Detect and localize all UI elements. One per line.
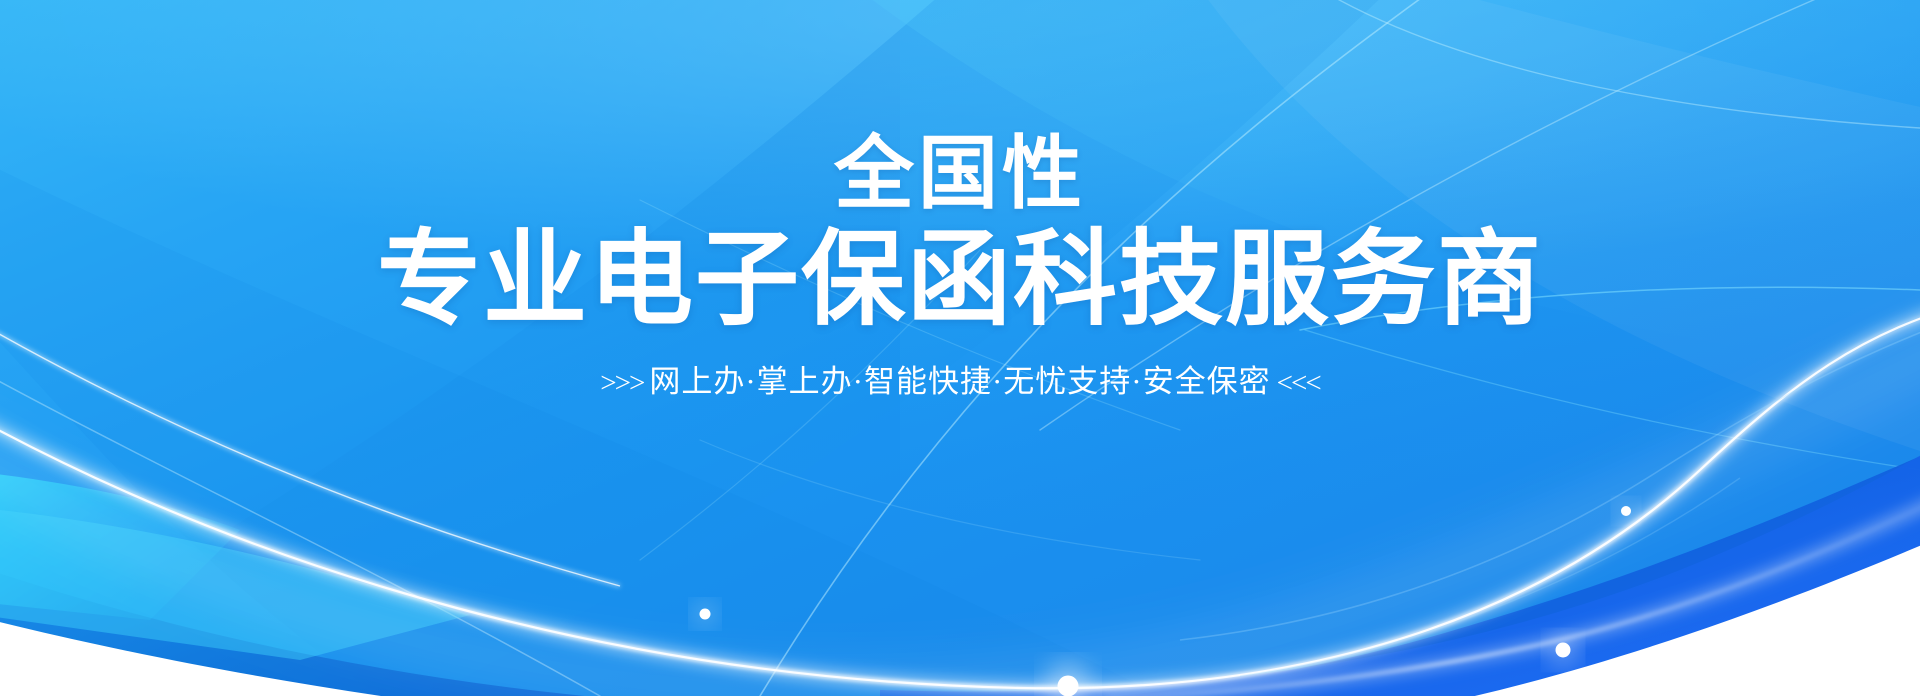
subheadline: >>>网上办·掌上办·智能快捷·无忧支持·安全保密<<< xyxy=(160,362,1760,403)
headline-line-1: 全国性 xyxy=(160,130,1760,218)
dot-right-upper xyxy=(1621,506,1631,516)
headline-line-2: 专业电子保函科技服务商 xyxy=(160,224,1760,336)
chevrons-left-icon: >>> xyxy=(594,367,649,399)
chevrons-right-icon: <<< xyxy=(1271,367,1326,399)
promo-banner: 全国性 专业电子保函科技服务商 >>>网上办·掌上办·智能快捷·无忧支持·安全保… xyxy=(0,0,1920,696)
dot-center-large xyxy=(1058,676,1079,696)
dot-right-lower xyxy=(1556,643,1571,658)
subheadline-text: 网上办·掌上办·智能快捷·无忧支持·安全保密 xyxy=(649,364,1270,399)
dot-left-small xyxy=(700,609,711,620)
